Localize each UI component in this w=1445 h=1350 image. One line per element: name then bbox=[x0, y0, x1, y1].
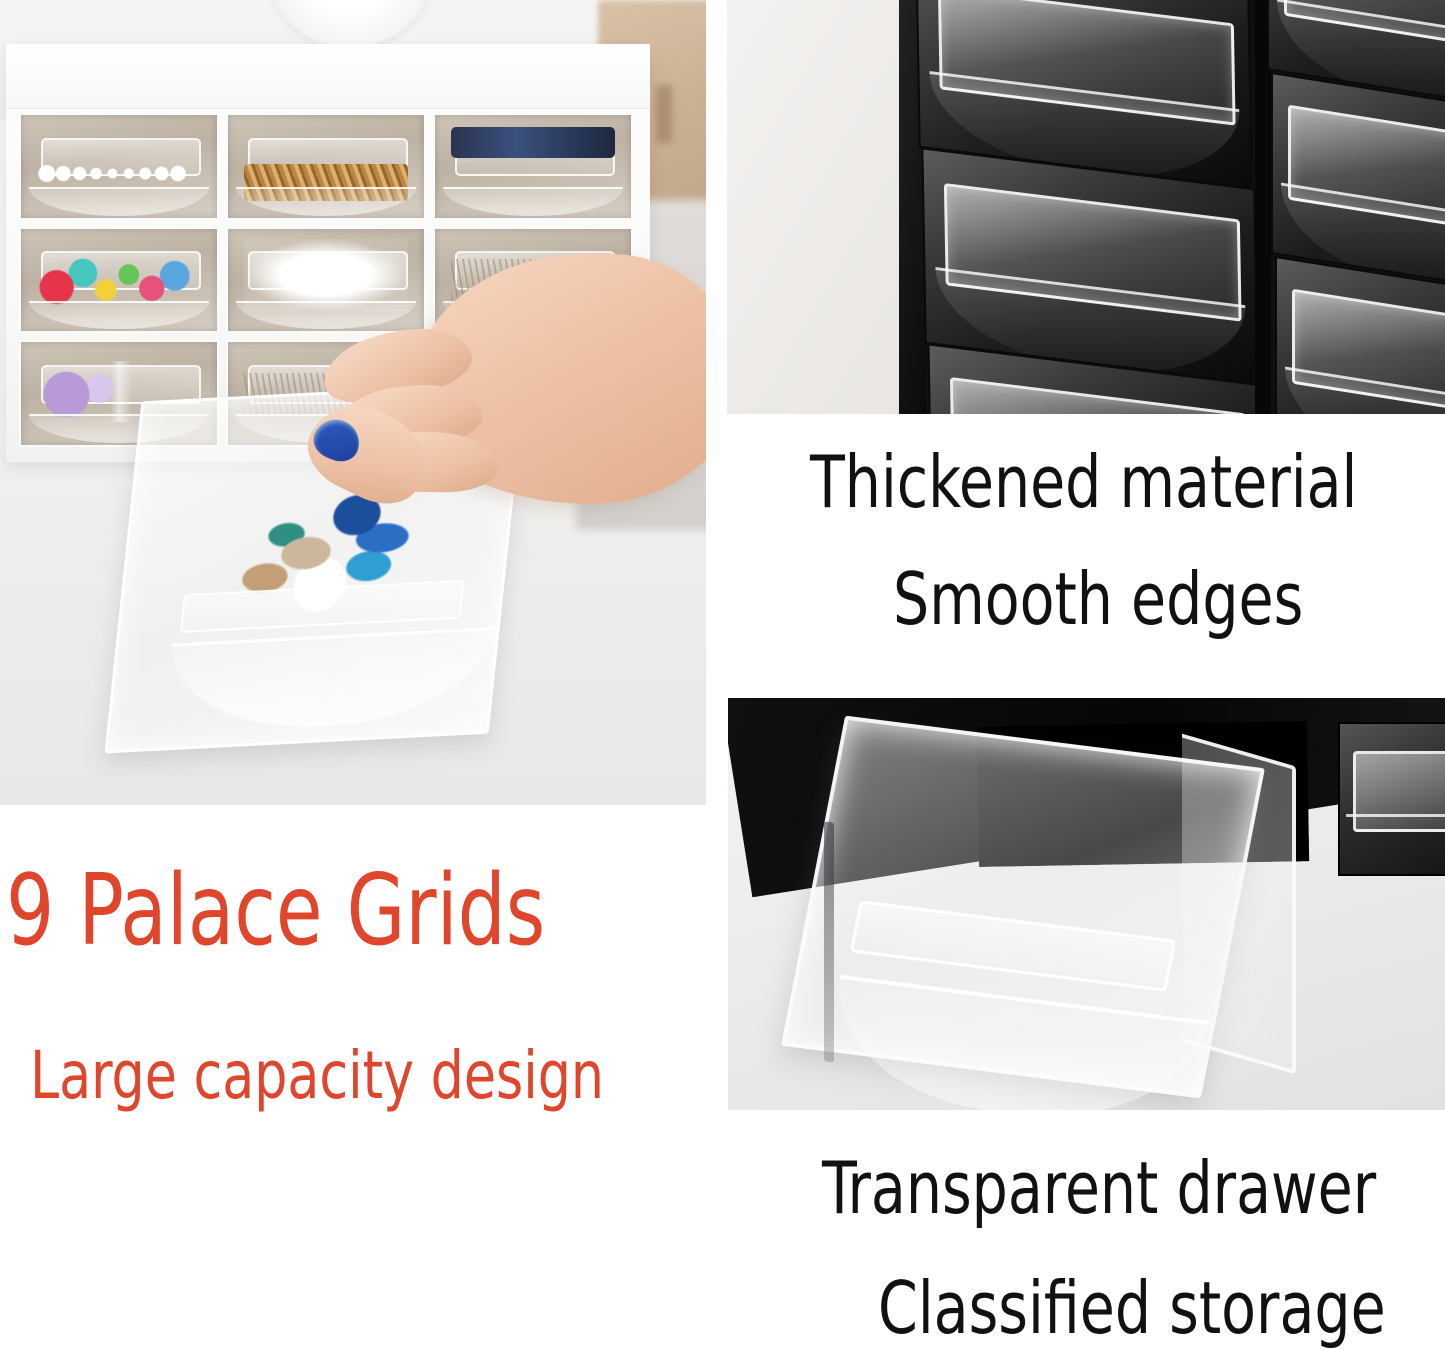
drawer-left-edge bbox=[824, 821, 834, 1062]
drawer-cell bbox=[19, 113, 219, 220]
drawer-content-colored-beads bbox=[37, 253, 202, 309]
photo-black-organizer-closeup bbox=[727, 0, 1445, 414]
drawer-content-gold-chain bbox=[244, 164, 409, 201]
caption-thickened-material: Thickened material bbox=[810, 446, 1357, 518]
drawer-cell bbox=[226, 113, 426, 220]
caption-classified-storage: Classified storage bbox=[878, 1272, 1386, 1344]
hand-holding-drawer bbox=[318, 214, 706, 544]
cabinet-top-surface bbox=[6, 44, 650, 109]
caption-transparent-drawer: Transparent drawer bbox=[822, 1152, 1376, 1224]
caption-large-capacity-design: Large capacity design bbox=[30, 1043, 604, 1109]
drawer-cell bbox=[433, 113, 633, 220]
clear-drawer-front bbox=[1275, 256, 1445, 414]
drawer-content-pearl-bracelet bbox=[37, 160, 202, 187]
photo-white-organizer bbox=[0, 0, 706, 805]
adjacent-clear-drawer bbox=[1338, 722, 1445, 876]
pulled-out-transparent-drawer bbox=[808, 742, 1238, 1072]
headline-palace-grids: 9 Palace Grids bbox=[6, 862, 545, 960]
caption-smooth-edges: Smooth edges bbox=[893, 563, 1303, 635]
photo-transparent-drawer-pulled-out bbox=[728, 698, 1445, 1110]
drawer-cell bbox=[19, 227, 219, 334]
background-wall bbox=[727, 0, 917, 414]
drawer-content-navy-cord-bracelet bbox=[451, 127, 616, 158]
